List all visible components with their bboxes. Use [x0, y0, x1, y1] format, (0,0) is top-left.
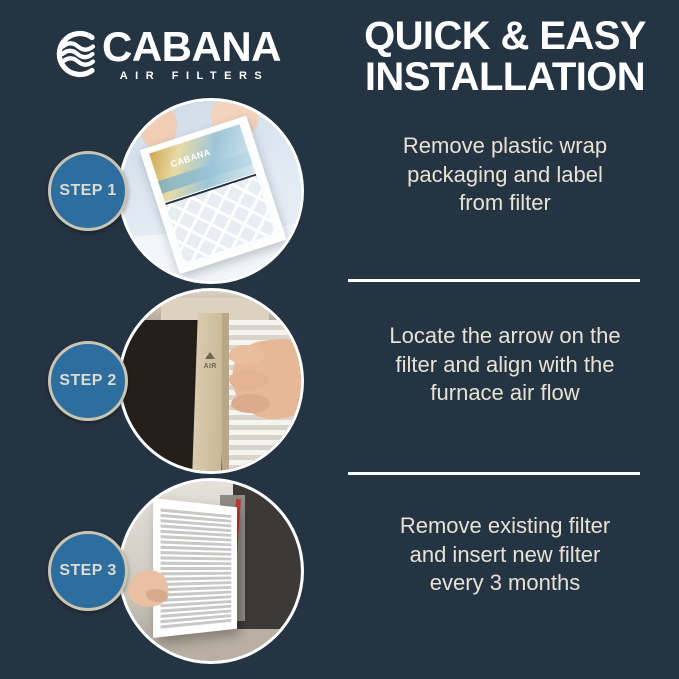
brand-tagline: AIR FILTERS — [108, 70, 281, 82]
step-3-photo — [118, 478, 304, 664]
step-2-text-line-3: furnace air flow — [338, 379, 672, 408]
brand-name: CABANA — [102, 26, 281, 67]
page-title-line-2: INSTALLATION — [340, 57, 670, 98]
step-3-text-line-2: and insert new filter — [338, 541, 672, 570]
step-3-text-line-3: every 3 months — [338, 569, 672, 598]
step-3-badge: STEP 3 — [48, 531, 128, 611]
page-title: QUICK & EASY INSTALLATION — [340, 16, 670, 98]
step-row-3: STEP 3 Remove existing filter and insert… — [0, 476, 679, 666]
step-2-badge-label: STEP 2 — [59, 372, 116, 390]
step-1-photo-art: CABANA — [121, 101, 301, 281]
step-3-photo-art — [121, 481, 301, 661]
step-2-text-line-2: filter and align with the — [338, 351, 672, 380]
step-1-text-line-2: packaging and label — [338, 161, 672, 190]
installation-instructions-poster: CABANA AIR FILTERS QUICK & EASY INSTALLA… — [0, 0, 679, 679]
divider-2 — [348, 472, 640, 475]
brand-logo: CABANA AIR FILTERS — [52, 22, 300, 86]
step-3-badge-label: STEP 3 — [59, 562, 116, 580]
step-2-text-line-1: Locate the arrow on the — [338, 322, 672, 351]
cabana-wave-circle-icon — [52, 28, 104, 80]
step-2-description: Locate the arrow on the filter and align… — [338, 322, 672, 408]
air-filter-icon — [154, 498, 238, 637]
step-1-photo: CABANA — [118, 98, 304, 284]
divider-1 — [348, 279, 640, 282]
step-2-badge: STEP 2 — [48, 341, 128, 421]
step-1-text-line-3: from filter — [338, 189, 672, 218]
air-flow-label: AIR — [198, 363, 221, 370]
step-1-text-line-1: Remove plastic wrap — [338, 132, 672, 161]
step-2-photo-art: AIR — [121, 291, 301, 471]
step-1-badge: STEP 1 — [48, 151, 128, 231]
page-title-line-1: QUICK & EASY — [340, 16, 670, 57]
step-3-description: Remove existing filter and insert new fi… — [338, 512, 672, 598]
step-row-1: CABANA STEP 1 Remove plastic wrap packag… — [0, 96, 679, 286]
brand-wordmark: CABANA AIR FILTERS — [102, 26, 281, 82]
step-row-2: AIR STEP 2 Locate the arrow on the filte… — [0, 286, 679, 476]
step-2-photo: AIR — [118, 288, 304, 474]
step-3-text-line-1: Remove existing filter — [338, 512, 672, 541]
step-1-badge-label: STEP 1 — [59, 182, 116, 200]
step-1-description: Remove plastic wrap packaging and label … — [338, 132, 672, 218]
